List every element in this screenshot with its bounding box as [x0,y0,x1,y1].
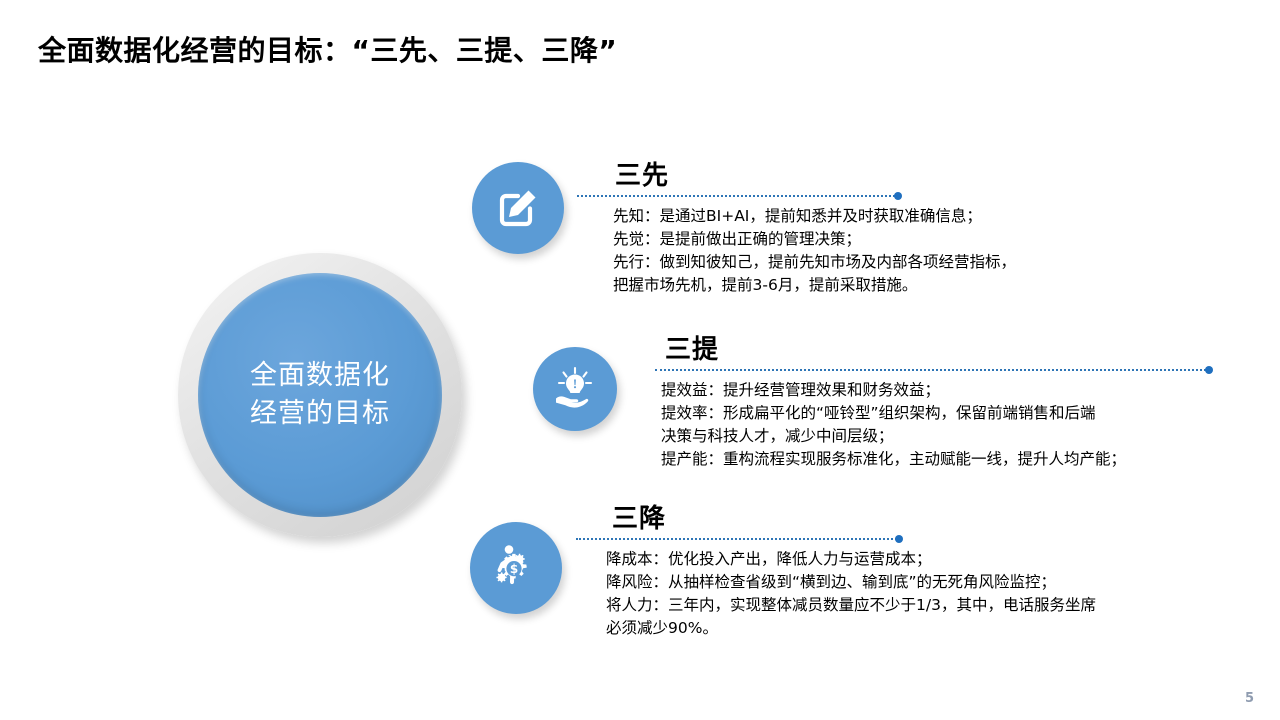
section-heading: 三提 [665,337,1210,364]
section-body: 降成本：优化投入产出，降低人力与运营成本； 降风险：从抽样检查省级到“横到边、输… [606,548,1256,639]
section-divider [655,366,1210,374]
icon-bubble-san-ti[interactable] [533,347,617,431]
section-san-xian: 三先 先知：是通过BI+AI，提前知悉并及时获取准确信息； 先觉：是提前做出正确… [577,163,899,296]
section-heading: 三先 [615,163,899,190]
section-body: 提效益：提升经营管理效果和财务效益； 提效率：形成扁平化的“哑铃型”组织架构，保… [661,379,1261,470]
page-title: 全面数据化经营的目标：“三先、三提、三降” [38,29,617,69]
hand-lightbulb-icon [550,364,600,414]
section-san-jiang: 三降 降成本：优化投入产出，降低人力与运营成本； 降风险：从抽样检查省级到“横到… [576,506,900,639]
dotted-line [577,195,899,197]
central-hub-label: 全面数据化 经营的目标 [250,357,390,434]
page-number: 5 [1245,691,1254,706]
icon-bubble-san-xian[interactable] [472,162,564,254]
person-gears-dollar-icon: $ [488,540,544,596]
icon-bubble-san-jiang[interactable]: $ [470,522,562,614]
dotted-line [655,369,1210,371]
svg-text:$: $ [510,562,518,576]
central-hub-inner: 全面数据化 经营的目标 [198,273,442,517]
pencil-square-icon [492,182,544,234]
dotted-line [576,538,900,540]
dotted-line-end-dot [895,535,903,543]
dotted-line-end-dot [1205,366,1213,374]
section-body: 先知：是通过BI+AI，提前知悉并及时获取准确信息； 先觉：是提前做出正确的管理… [613,205,1213,296]
section-san-ti: 三提 提效益：提升经营管理效果和财务效益； 提效率：形成扁平化的“哑铃型”组织架… [655,337,1210,470]
section-heading: 三降 [612,506,900,533]
dotted-line-end-dot [894,192,902,200]
section-divider [576,535,900,543]
central-hub-circle: 全面数据化 经营的目标 [178,253,462,537]
section-divider [577,192,899,200]
